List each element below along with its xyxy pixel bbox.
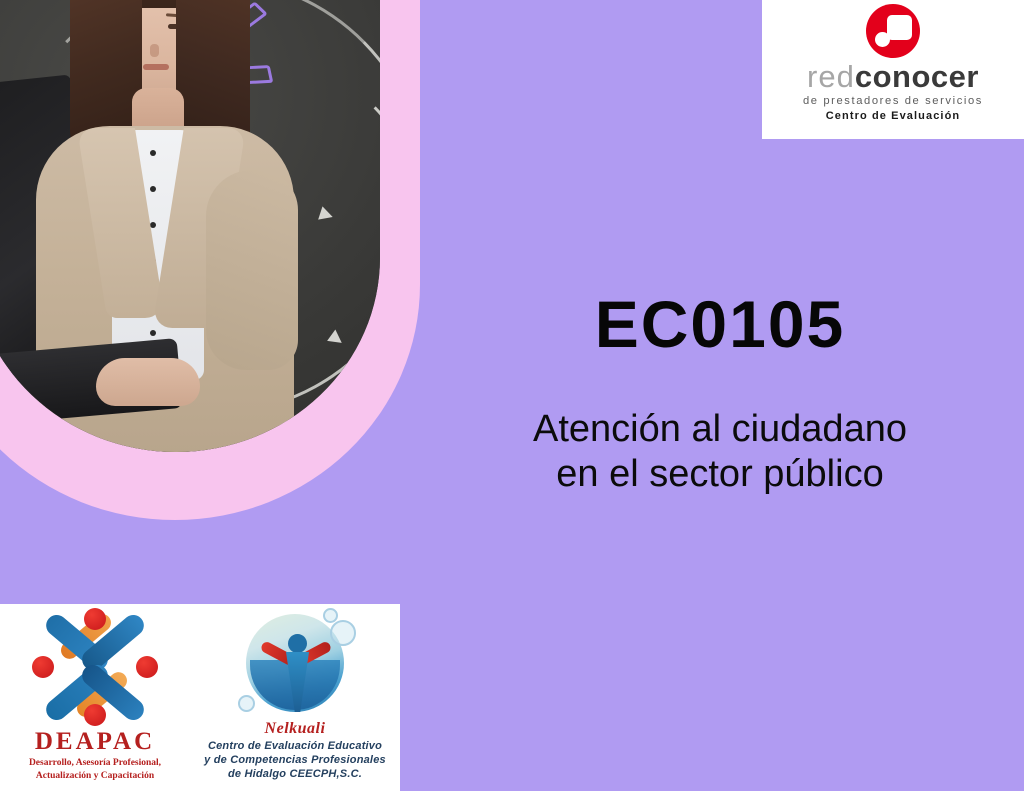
- person-figure: [0, 0, 330, 452]
- arm-right: [206, 170, 298, 370]
- nelkuali-logo: Nelkuali Centro de Evaluación Educativo …: [190, 604, 400, 781]
- deapac-dot-red: [32, 656, 54, 678]
- nelkuali-tagline-line-1: Centro de Evaluación Educativo: [190, 739, 400, 753]
- conocer-mark-icon: [866, 4, 920, 58]
- nelkuali-bubble-icon: [330, 620, 356, 646]
- nelkuali-name: Nelkuali: [190, 720, 400, 738]
- nelkuali-tagline-line-3: de Hidalgo CEECPH,S.C.: [190, 767, 400, 781]
- deapac-pinwheel-icon: [30, 610, 160, 726]
- deapac-dot-red: [84, 704, 106, 726]
- mouth: [143, 64, 169, 70]
- conocer-dot-icon: [875, 32, 890, 47]
- conocer-square-icon: [887, 15, 912, 40]
- deapac-tagline-line-2: Actualización y Capacitación: [0, 770, 190, 783]
- photo-pink-frame: [0, 0, 420, 520]
- conocer-word-red: red: [807, 59, 855, 94]
- nelkuali-tagline-line-2: y de Competencias Profesionales: [190, 753, 400, 767]
- course-subtitle-line-1: Atención al ciudadano: [440, 407, 1000, 452]
- deapac-tagline: Desarrollo, Asesoría Profesional, Actual…: [0, 757, 190, 783]
- conocer-subtitle-1: de prestadores de servicios: [803, 95, 983, 107]
- nose: [150, 44, 159, 57]
- hands: [96, 358, 200, 406]
- title-block: EC0105 Atención al ciudadano en el secto…: [440, 290, 1000, 497]
- deapac-dot-red: [136, 656, 158, 678]
- photo-businesswoman: [0, 0, 380, 452]
- nelkuali-globe-icon: [236, 608, 354, 720]
- deapac-name: DEAPAC: [0, 728, 190, 756]
- slide-canvas: redconocer de prestadores de servicios C…: [0, 0, 1024, 791]
- conocer-wordmark: redconocer: [807, 60, 979, 93]
- course-subtitle-line-2: en el sector público: [440, 452, 1000, 497]
- course-code: EC0105: [440, 290, 1000, 359]
- conocer-word-bold: conocer: [855, 59, 979, 94]
- deapac-dot-red: [84, 608, 106, 630]
- nelkuali-tagline: Centro de Evaluación Educativo y de Comp…: [190, 739, 400, 781]
- footer-logos-panel: DEAPAC Desarrollo, Asesoría Profesional,…: [0, 604, 400, 791]
- conocer-subtitle-2: Centro de Evaluación: [826, 110, 960, 122]
- deapac-tagline-line-1: Desarrollo, Asesoría Profesional,: [0, 757, 190, 770]
- nelkuali-bubble-icon: [323, 608, 338, 623]
- deapac-logo: DEAPAC Desarrollo, Asesoría Profesional,…: [0, 604, 190, 783]
- course-subtitle: Atención al ciudadano en el sector públi…: [440, 407, 1000, 497]
- nelkuali-person-head: [288, 634, 307, 653]
- red-conocer-logo-panel: redconocer de prestadores de servicios C…: [762, 0, 1024, 139]
- nelkuali-bubble-icon: [238, 695, 255, 712]
